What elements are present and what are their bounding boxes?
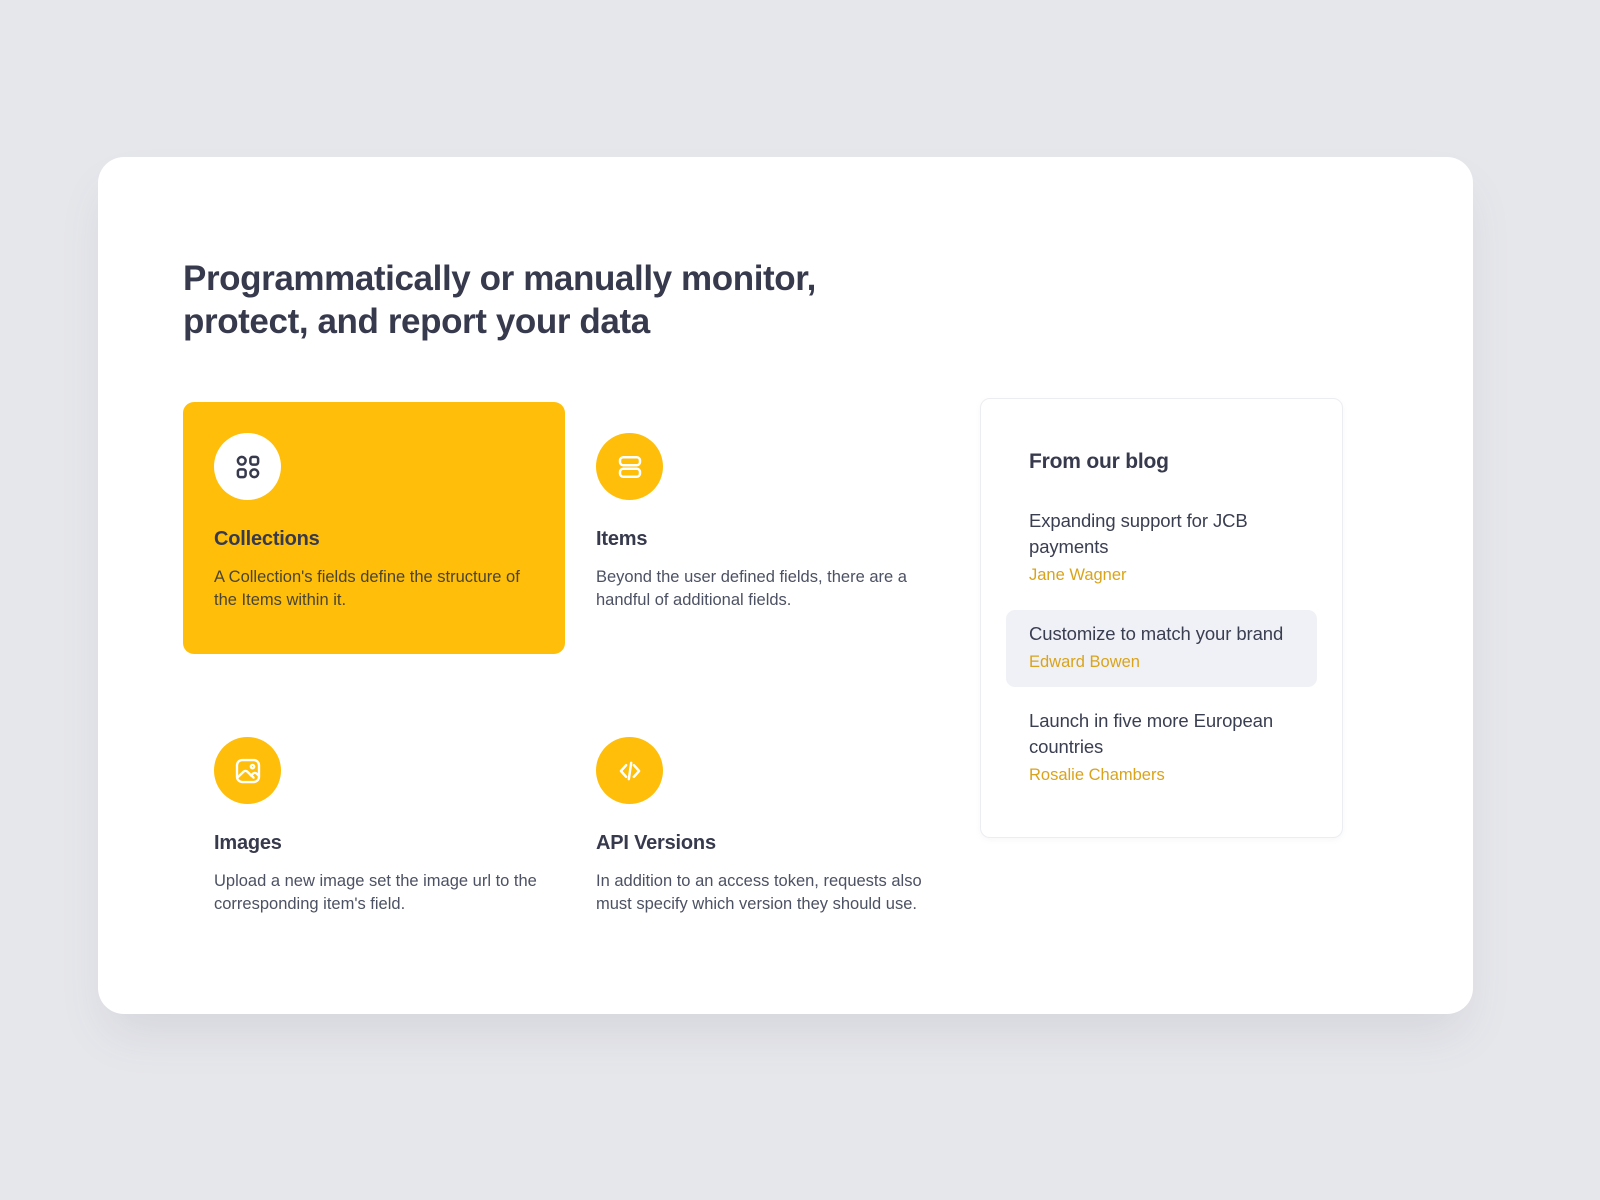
blog-panel-title: From our blog [1029,450,1317,474]
feature-description: A Collection's fields define the structu… [214,566,526,612]
feature-title: API Versions [596,832,916,855]
feature-title: Images [214,832,534,855]
feature-card-api-versions[interactable]: API Versions In addition to an access to… [565,706,947,916]
feature-description: Upload a new image set the image url to … [214,870,544,916]
page-title-line-1: Programmatically or manually monitor, [183,259,816,298]
image-icon [214,737,281,804]
stacked-rows-icon [596,433,663,500]
feature-title: Collections [214,528,534,551]
blog-post-title: Launch in five more European countries [1029,708,1294,760]
blog-panel: From our blog Expanding support for JCB … [980,398,1343,838]
page-title: Programmatically or manually monitor, pr… [183,257,963,343]
blog-post-author: Rosalie Chambers [1029,763,1294,787]
feature-card-items[interactable]: Items Beyond the user defined fields, th… [565,402,947,654]
feature-title: Items [596,528,916,551]
page-root: Programmatically or manually monitor, pr… [0,0,1600,1200]
feature-row-2: Images Upload a new image set the image … [183,706,983,916]
code-brackets-icon [596,737,663,804]
main-content-card: Programmatically or manually monitor, pr… [98,157,1473,1014]
blog-post-author: Jane Wagner [1029,563,1294,587]
blog-post-title: Customize to match your brand [1029,621,1294,647]
feature-card-images[interactable]: Images Upload a new image set the image … [183,706,565,916]
blog-post-author: Edward Bowen [1029,650,1294,674]
blog-post-title: Expanding support for JCB payments [1029,508,1294,560]
feature-description: In addition to an access token, requests… [596,870,926,916]
blog-post-item[interactable]: Customize to match your brand Edward Bow… [1006,610,1317,687]
blog-post-list: Expanding support for JCB payments Jane … [1006,497,1317,800]
feature-description: Beyond the user defined fields, there ar… [596,566,926,612]
feature-card-collections[interactable]: Collections A Collection's fields define… [183,402,565,654]
row-spacer [183,654,983,706]
feature-row-1: Collections A Collection's fields define… [183,402,983,654]
blog-post-item[interactable]: Expanding support for JCB payments Jane … [1006,497,1317,600]
feature-grid: Collections A Collection's fields define… [183,402,983,916]
grid-2x2-icon [214,433,281,500]
page-title-line-2: protect, and report your data [183,302,650,341]
blog-post-item[interactable]: Launch in five more European countries R… [1006,697,1317,800]
